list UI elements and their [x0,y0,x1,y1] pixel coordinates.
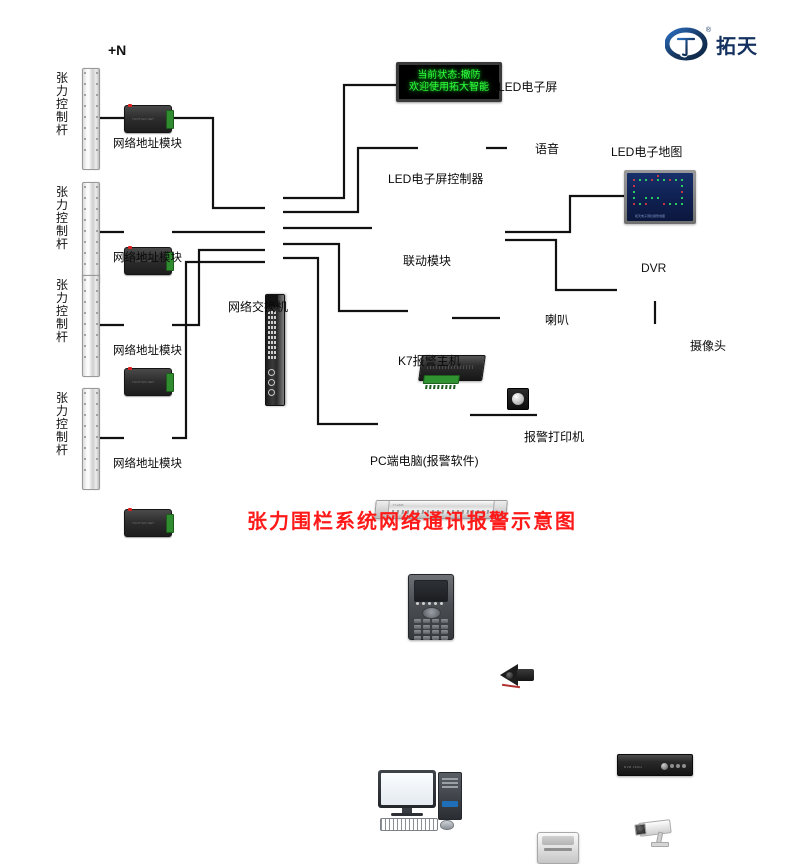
pole-label-4: 张力控制杆 [55,392,69,457]
diagram-canvas: ® 拓天 +N 张力控制杆 TUOTIAN NET 网络地址模块 张力控制杆 T… [0,0,800,579]
tension-control-pole-2 [82,182,100,284]
network-address-module-1: TUOTIAN NET [124,105,172,133]
k7-keypad[interactable] [414,619,448,640]
network-switch-label: 网络交换机 [228,298,288,315]
pole-label-2: 张力控制杆 [55,186,69,251]
dvr-label: DVR [641,262,666,275]
voice-module [507,388,529,410]
status-led-icon [128,367,132,370]
led-display-line-2: 欢迎使用拓大智能 [409,82,489,95]
pc-workstation[interactable] [378,770,470,832]
tuotian-t-ellipse-logo-icon: ® [665,27,709,61]
module-label-4: 网络地址模块 [113,455,182,471]
voice-label: 语音 [535,140,559,157]
led-display-screen: 当前状态:撤防 欢迎使用拓大智能 [396,62,502,102]
module-label-1: 网络地址模块 [113,135,182,151]
horn-speaker [500,664,540,686]
k7-screen [414,580,448,602]
led-display-label: LED电子屏 [498,78,557,95]
tension-control-pole-1 [82,68,100,170]
tension-control-pole-4 [82,388,100,490]
pole-label-1: 张力控制杆 [55,72,69,137]
horn-label: 喇叭 [545,311,569,328]
module-label-3: 网络地址模块 [113,342,182,358]
monitor-icon [378,770,436,808]
brand-name: 拓天 [716,30,758,59]
terminal-connector-icon [166,110,174,129]
pc-label: PC端电脑(报警软件) [370,452,479,469]
led-display-line-1: 当前状态:撤防 [417,70,480,83]
brand-logo: ® 拓天 [665,27,758,61]
registered-mark: ® [706,27,711,34]
mouse-icon[interactable] [440,820,454,830]
status-led-icon [128,104,132,107]
diagram-title: 张力围栏系统网络通讯报警示意图 [247,505,577,534]
led-map-caption: 拓天电子围栏报警地图 [635,214,665,218]
pole-label-3: 张力控制杆 [55,279,69,344]
camera-label: 摄像头 [690,337,726,354]
terminal-connector-icon [166,514,174,533]
network-address-module-4: TUOTIAN NET [124,509,172,537]
speaker-dome-icon [512,393,524,405]
printer-label: 报警打印机 [524,428,584,445]
module-label-2: 网络地址模块 [113,249,182,265]
keyboard-icon[interactable] [380,818,438,831]
network-address-module-3: TUOTIAN NET [124,368,172,396]
pc-tower-icon [438,772,462,820]
status-led-icon [128,508,132,511]
led-map-label: LED电子地图 [611,143,682,160]
linkage-module-label: 联动模块 [403,252,451,269]
camera-lens-icon [634,823,646,835]
tension-control-pole-3 [82,275,100,377]
k7-alarm-host[interactable] [408,574,454,640]
dvr-device: DVR 16CH [617,754,693,776]
plus-n-label: +N [108,42,126,58]
led-electronic-map: 拓天电子围栏报警地图 [624,170,696,224]
terminal-block-icon [423,375,460,384]
dvr-jog-dial-icon[interactable] [661,763,668,770]
led-controller-label: LED电子屏控制器 [388,170,483,187]
k7-navigation-pad[interactable] [422,607,441,619]
k7-alarm-host-label: K7报警主机 [398,352,461,369]
security-camera [631,819,679,849]
alarm-printer [537,832,579,864]
terminal-connector-icon [166,373,174,392]
